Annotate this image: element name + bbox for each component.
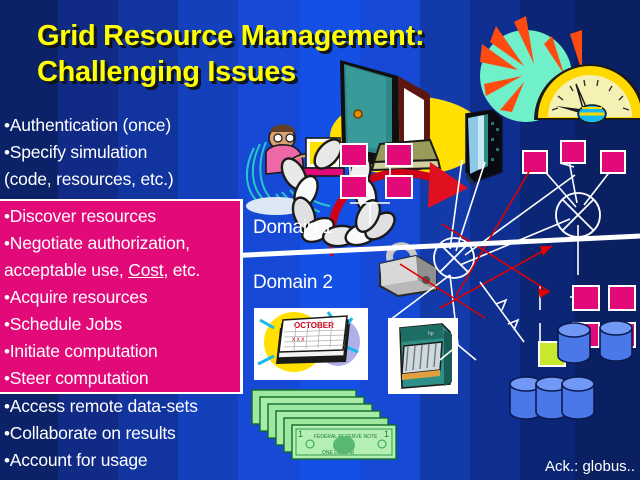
svg-text:1: 1 [298,429,303,439]
network-node-square [385,143,413,167]
list-item-label: Negotiate authorization, [10,233,190,253]
list-item-label: Collaborate on results [10,423,176,443]
list-item: •Account for usage [4,447,254,474]
title-line-1: Grid Resource Management: [37,18,467,54]
page-title: Grid Resource Management: Challenging Is… [37,18,467,90]
network-node-square [560,140,586,164]
list-item-label: Discover resources [10,206,156,226]
list-item-label: Acquire resources [10,287,148,307]
domain-1-label: Domain 1 [253,217,333,239]
highlight-box: •Discover resources •Negotiate authoriza… [0,199,243,394]
list-item-cost: acceptable use, Cost, etc. [4,257,242,284]
list-item-label: Schedule Jobs [10,314,122,334]
list-item-label: Authentication (once) [10,115,171,135]
list-item-label: Account for usage [10,450,148,470]
list-item: •Steer computation [4,365,242,392]
list-item: •Access remote data-sets [4,393,254,420]
slide-canvas: OCTOBER x x x [0,0,640,480]
domain-2-label: Domain 2 [253,272,333,294]
acknowledgement-label: Ack.: globus.. [545,458,635,475]
bullet-list-bottom: •Access remote data-sets •Collaborate on… [4,393,254,474]
list-item: •Collaborate on results [4,420,254,447]
list-item-label-prefix: acceptable use, [4,260,128,280]
database-cylinders-lower [508,372,602,426]
svg-text:OCTOBER: OCTOBER [294,321,334,330]
network-node-square [340,143,368,167]
cost-link[interactable]: Cost [128,260,163,280]
list-item-label: Initiate computation [10,341,158,361]
list-item-label: Access remote data-sets [10,396,198,416]
bullet-list-top: •Authentication (once) •Specify simulati… [4,112,254,193]
list-item: •Authentication (once) [4,112,254,139]
list-item: •Discover resources [4,203,242,230]
list-item-label: Specify simulation [10,142,147,162]
list-item: •Initiate computation [4,338,242,365]
list-item-label: (code, resources, etc.) [4,169,174,189]
list-item-label: Steer computation [10,368,149,388]
svg-text:x x x: x x x [292,337,304,343]
list-item: •Specify simulation [4,139,254,166]
list-item: •Acquire resources [4,284,242,311]
list-item: •Schedule Jobs [4,311,242,338]
list-item: •Negotiate authorization, [4,230,242,257]
title-line-2: Challenging Issues [37,54,467,90]
list-item: (code, resources, etc.) [4,166,254,193]
highlight-box-list: •Discover resources •Negotiate authoriza… [4,203,242,392]
list-item-label-suffix: , etc. [163,260,200,280]
